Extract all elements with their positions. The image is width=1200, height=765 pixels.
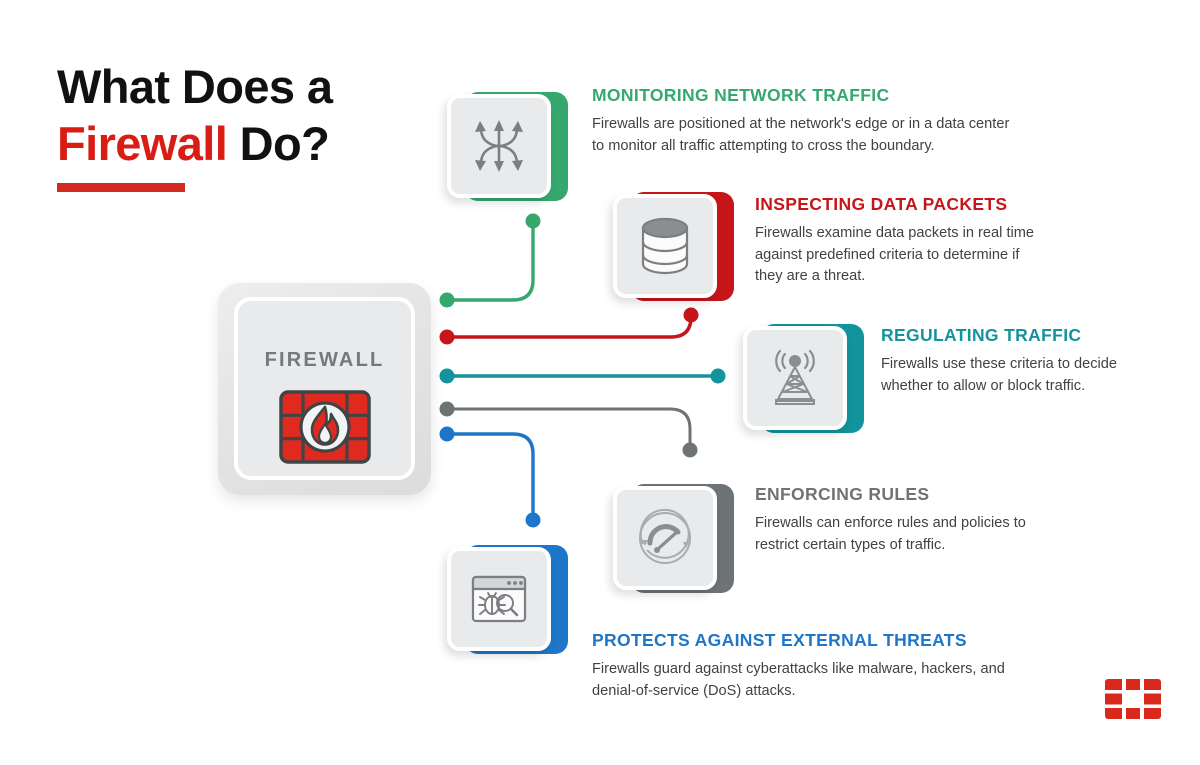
wire-dot-inspecting-start — [440, 330, 455, 345]
wire-dot-enforcing-end — [683, 443, 698, 458]
firewall-label: FIREWALL — [265, 349, 385, 372]
tile-monitoring-network-traffic[interactable] — [447, 80, 568, 201]
firewall-panel-inner: FIREWALL — [234, 297, 415, 480]
wire-dot-protects-start — [440, 427, 455, 442]
body-protects-against-external-threats: Firewalls guard against cyberattacks lik… — [592, 659, 1022, 702]
wire-dot-regulating-end — [711, 369, 726, 384]
tile-card — [613, 194, 717, 298]
text-block-enforcing-rules: ENFORCING RULES Firewalls can enforce ru… — [755, 484, 1055, 556]
network-traffic-arrows-icon — [467, 114, 531, 178]
wire-dot-protects-end — [526, 513, 541, 528]
wire-dot-enforcing-start — [440, 402, 455, 417]
fortinet-logo — [1105, 676, 1161, 722]
infographic-canvas: What Does a Firewall Do? FIREWALL — [0, 0, 1200, 765]
tile-card — [447, 94, 551, 198]
body-monitoring-network-traffic: Firewalls are positioned at the network'… — [592, 114, 1017, 157]
tile-enforcing-rules[interactable] — [613, 472, 734, 593]
heading-enforcing-rules: ENFORCING RULES — [755, 484, 1055, 505]
heading-inspecting-data-packets: INSPECTING DATA PACKETS — [755, 194, 1035, 215]
browser-bug-scan-icon — [467, 571, 531, 627]
wire-inspecting — [447, 317, 691, 337]
heading-regulating-traffic: REGULATING TRAFFIC — [881, 325, 1131, 346]
tile-card — [743, 326, 847, 430]
body-inspecting-data-packets: Firewalls examine data packets in real t… — [755, 223, 1035, 288]
wire-dot-inspecting-end — [684, 308, 699, 323]
speedometer-gauge-icon — [633, 506, 697, 570]
heading-protects-against-external-threats: PROTECTS AGAINST EXTERNAL THREATS — [592, 630, 1022, 651]
wire-dot-regulating-start — [440, 369, 455, 384]
wire-monitoring — [447, 221, 533, 300]
body-enforcing-rules: Firewalls can enforce rules and policies… — [755, 513, 1055, 556]
wire-protects — [447, 434, 533, 518]
firewall-brick-flame-icon — [279, 390, 371, 469]
text-block-inspecting-data-packets: INSPECTING DATA PACKETS Firewalls examin… — [755, 194, 1035, 288]
tile-protects-against-external-threats[interactable] — [447, 533, 568, 654]
tile-card — [613, 486, 717, 590]
wire-enforcing — [447, 409, 690, 448]
wire-dot-monitoring-start — [440, 293, 455, 308]
radio-tower-icon — [764, 347, 826, 409]
text-block-monitoring-network-traffic: MONITORING NETWORK TRAFFIC Firewalls are… — [592, 85, 1017, 157]
body-regulating-traffic: Firewalls use these criteria to decide w… — [881, 354, 1131, 397]
tile-inspecting-data-packets[interactable] — [613, 180, 734, 301]
tile-card — [447, 547, 551, 651]
wire-dot-monitoring-end — [526, 214, 541, 229]
text-block-regulating-traffic: REGULATING TRAFFIC Firewalls use these c… — [881, 325, 1131, 397]
firewall-panel: FIREWALL — [218, 283, 431, 495]
tile-regulating-traffic[interactable] — [743, 312, 864, 433]
text-block-protects-against-external-threats: PROTECTS AGAINST EXTERNAL THREATS Firewa… — [592, 630, 1022, 702]
heading-monitoring-network-traffic: MONITORING NETWORK TRAFFIC — [592, 85, 1017, 106]
database-cylinder-icon — [635, 215, 695, 277]
